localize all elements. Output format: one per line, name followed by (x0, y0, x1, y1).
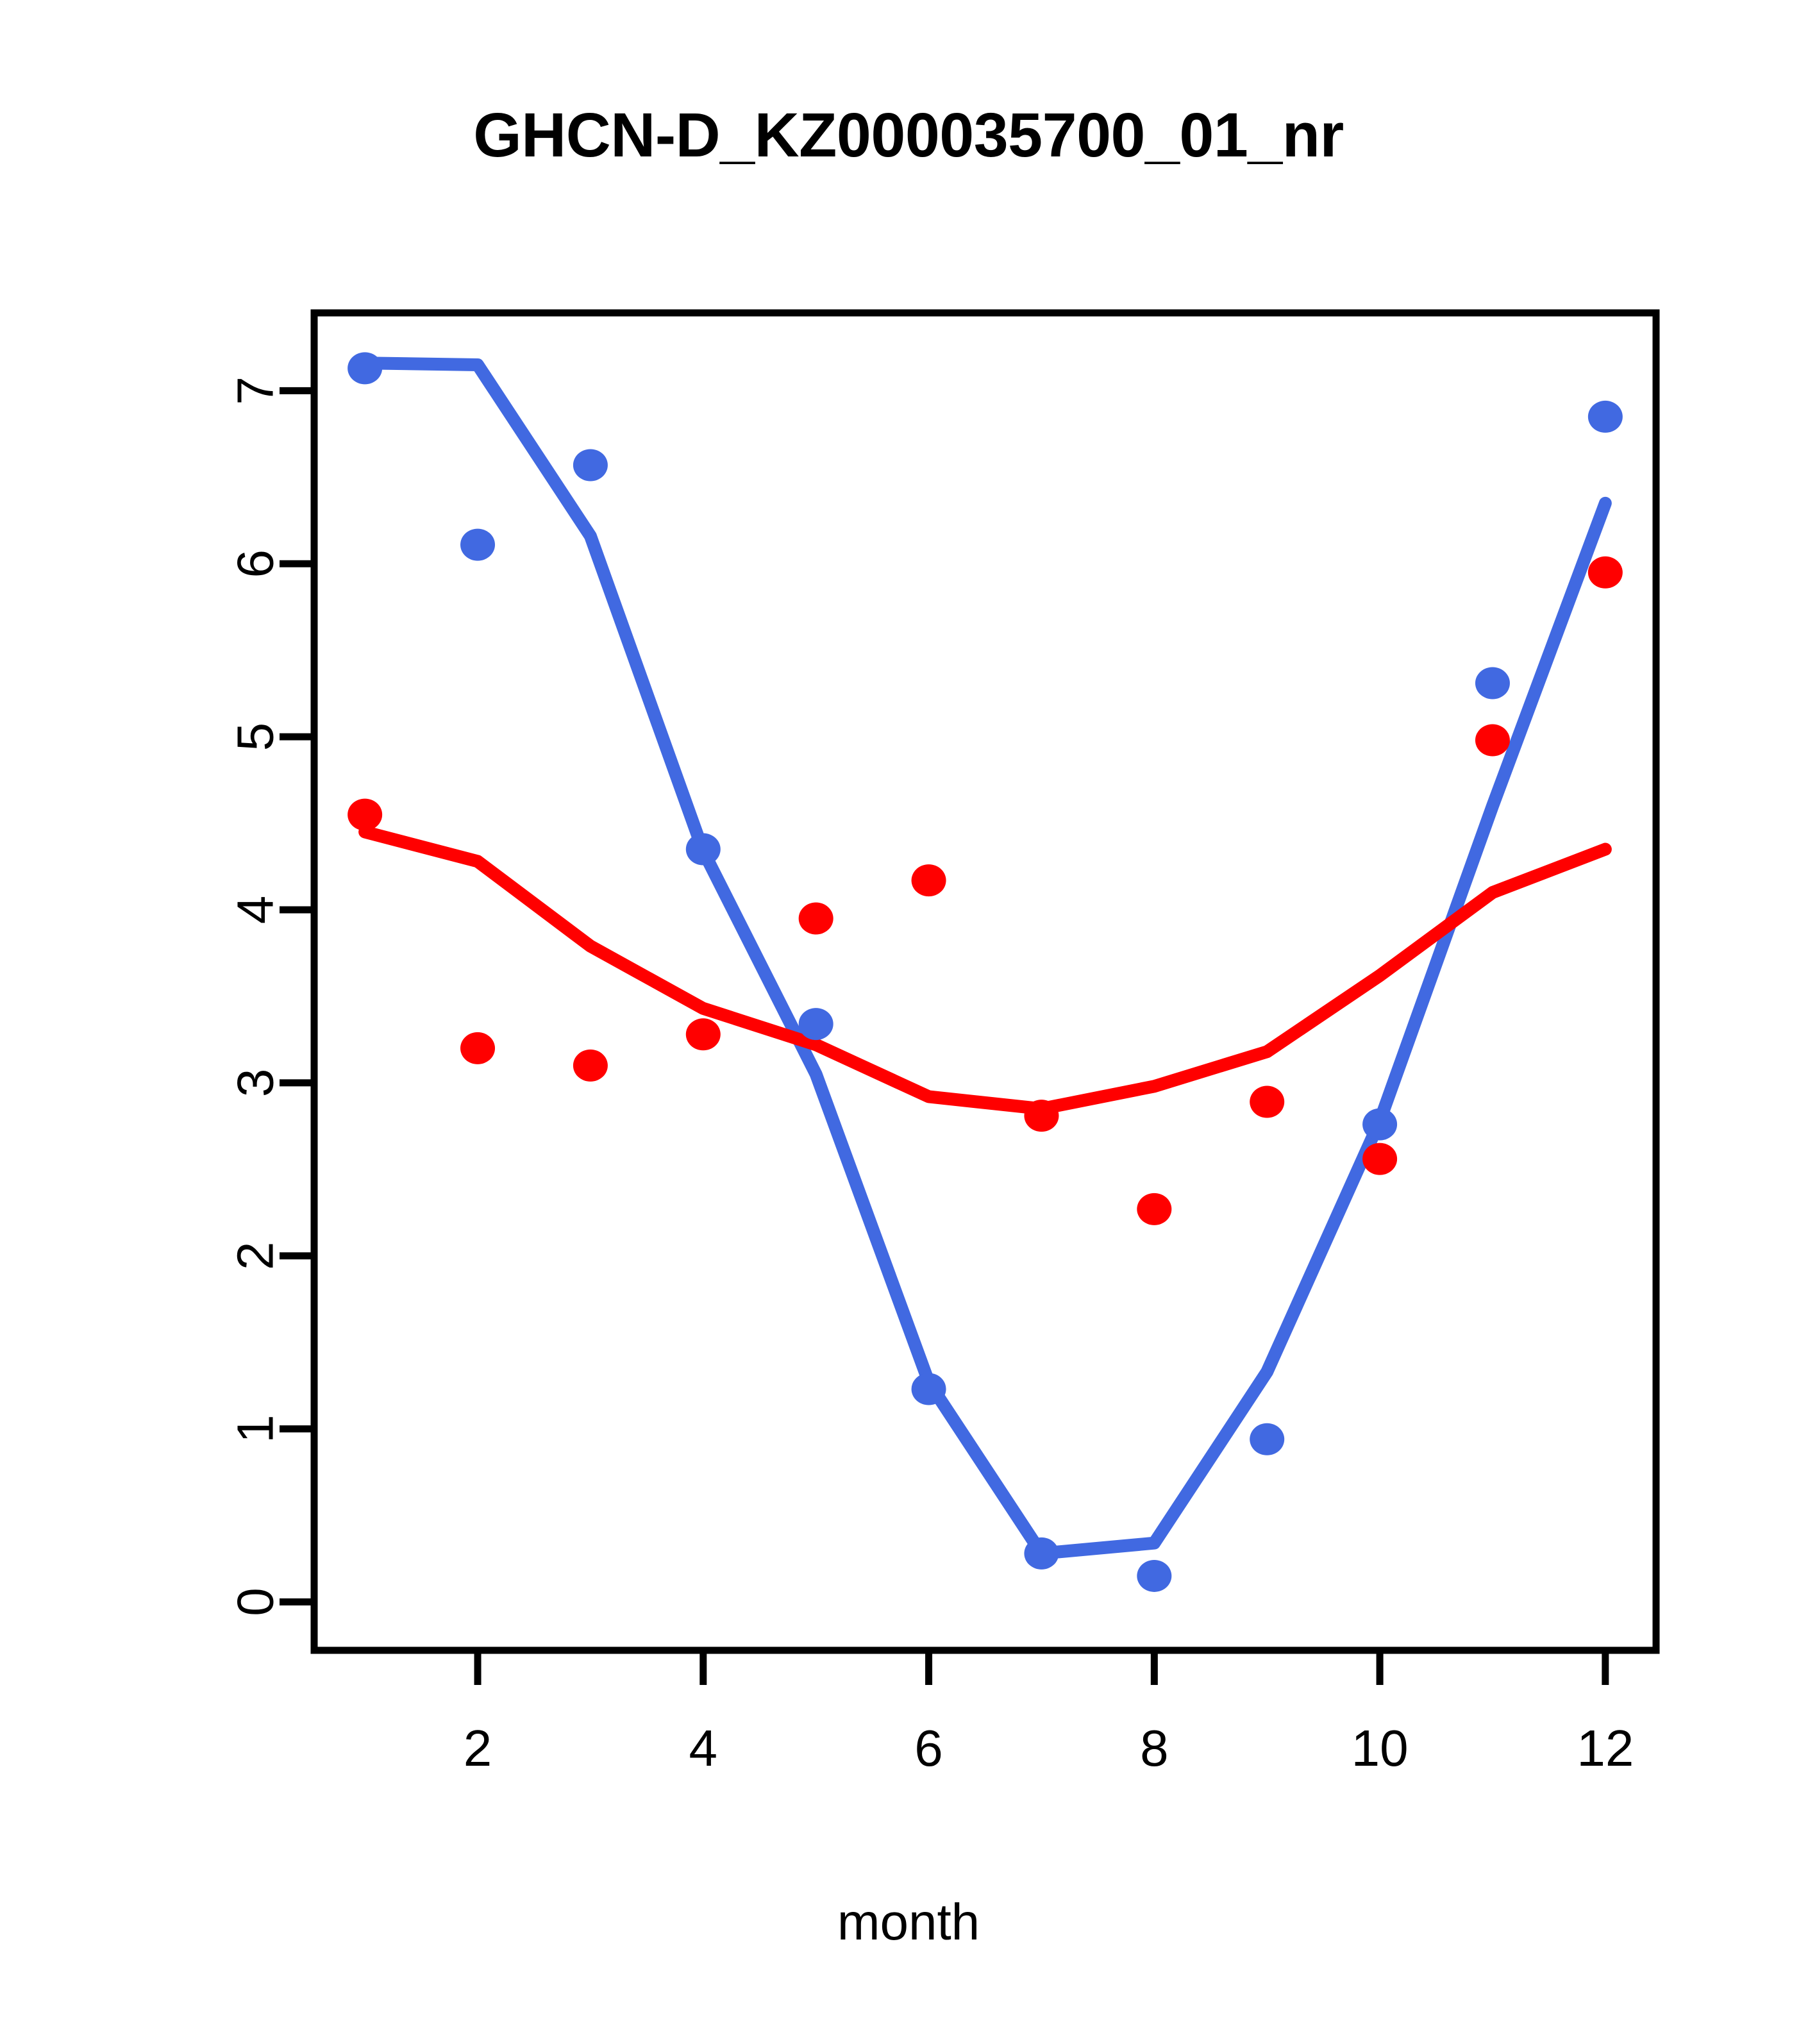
x-tick-label: 2 (464, 1720, 492, 1777)
data-point (799, 903, 833, 935)
plot-frame (314, 313, 1656, 1650)
data-point (347, 799, 382, 831)
plot-box (314, 313, 1656, 1650)
x-tick-label: 8 (1140, 1720, 1169, 1777)
series-line-red-line (365, 832, 1605, 1109)
data-point (1362, 1109, 1397, 1141)
x-tick-label: 4 (689, 1720, 718, 1777)
x-axis-label: month (0, 1893, 1817, 1952)
data-point (912, 864, 946, 896)
data-point (1588, 401, 1623, 433)
y-axis-ticks (280, 390, 314, 1602)
data-point (686, 834, 721, 866)
y-axis-tick-labels: 01234567 (227, 376, 284, 1616)
y-tick-label: 6 (227, 549, 284, 578)
data-point (1475, 667, 1510, 699)
data-point (573, 449, 608, 481)
y-tick-label: 5 (227, 723, 284, 751)
x-axis-ticks (478, 1650, 1605, 1685)
plot-area: 01234567 24681012 (0, 0, 1817, 2044)
y-tick-label: 1 (227, 1414, 284, 1443)
y-tick-label: 3 (227, 1069, 284, 1098)
data-point (347, 352, 382, 384)
data-point (1588, 557, 1623, 589)
data-point (573, 1050, 608, 1082)
data-point (1250, 1086, 1284, 1118)
data-point (912, 1373, 946, 1405)
x-tick-label: 12 (1577, 1720, 1634, 1777)
x-tick-label: 6 (914, 1720, 943, 1777)
series-line-blue-line (365, 363, 1605, 1554)
data-point (1137, 1560, 1171, 1592)
y-tick-label: 0 (227, 1587, 284, 1616)
data-point (1024, 1537, 1059, 1570)
series-lines (365, 363, 1605, 1554)
data-point (686, 1018, 721, 1050)
y-tick-label: 7 (227, 376, 284, 405)
data-point (460, 1032, 495, 1064)
y-tick-label: 4 (227, 896, 284, 925)
data-point (1475, 725, 1510, 757)
x-axis-tick-labels: 24681012 (464, 1720, 1634, 1777)
data-point (1024, 1100, 1059, 1132)
data-point (460, 529, 495, 561)
x-tick-label: 10 (1352, 1720, 1409, 1777)
data-point (1362, 1143, 1397, 1175)
data-point (1137, 1193, 1171, 1225)
chart-container: GHCN-D_KZ000035700_01_nr 01234567 246810… (0, 0, 1817, 2044)
y-tick-label: 2 (227, 1241, 284, 1270)
data-point (1250, 1423, 1284, 1455)
data-point (799, 1008, 833, 1040)
